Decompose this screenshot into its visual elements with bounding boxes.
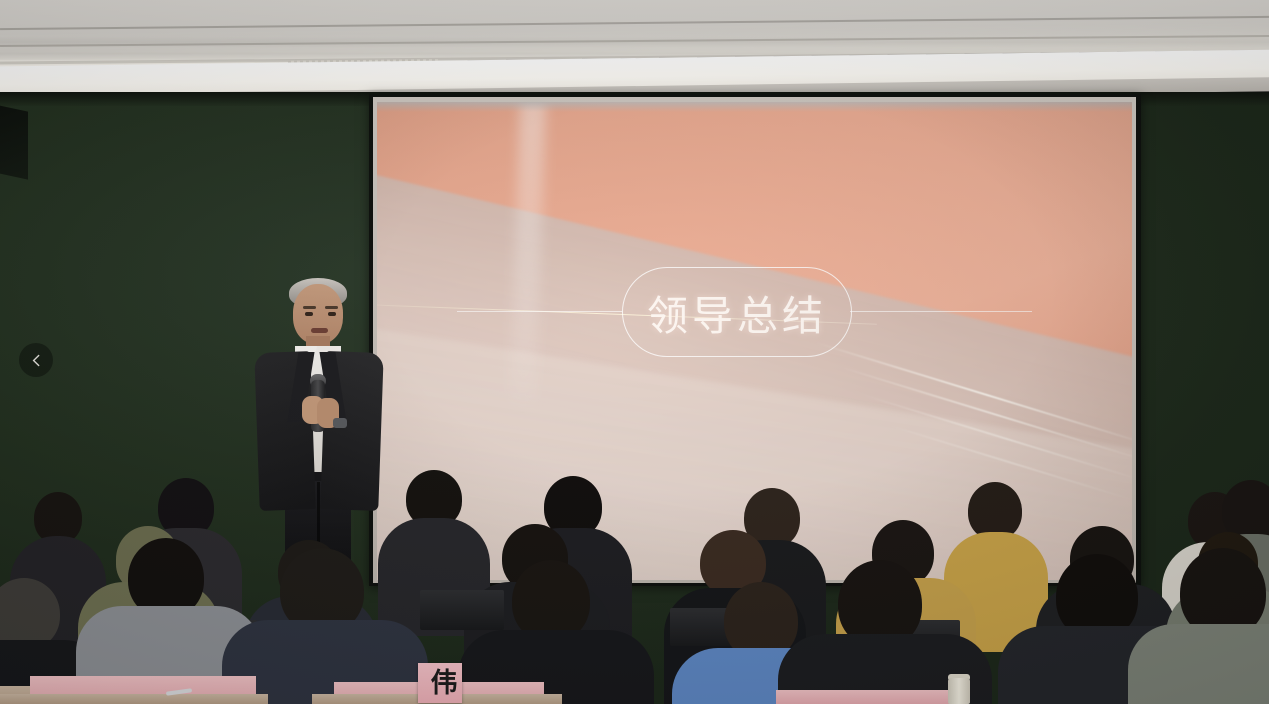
presenter-wristwatch: [333, 418, 347, 428]
previous-photo-button[interactable]: [19, 343, 53, 377]
table-cloth: [776, 690, 956, 704]
presenter-mouth: [311, 328, 328, 333]
presenter-eye: [328, 312, 336, 316]
chevron-left-icon: [30, 354, 43, 367]
water-bottle: [948, 678, 970, 704]
laptop: [420, 590, 504, 630]
name-placard-text: 伟: [431, 670, 458, 697]
presenter-eye: [305, 312, 313, 316]
presenter-brow: [325, 306, 338, 309]
name-placard: 伟: [418, 663, 462, 703]
conference-table: [0, 694, 268, 704]
conference-room-photo: 领导总结: [0, 0, 1269, 704]
ceiling-seam: [0, 16, 1269, 30]
ceiling-seam: [0, 35, 1269, 47]
wall-mounted-speaker: [0, 104, 28, 179]
presenter-brow: [303, 306, 316, 309]
audience: [0, 430, 1269, 704]
